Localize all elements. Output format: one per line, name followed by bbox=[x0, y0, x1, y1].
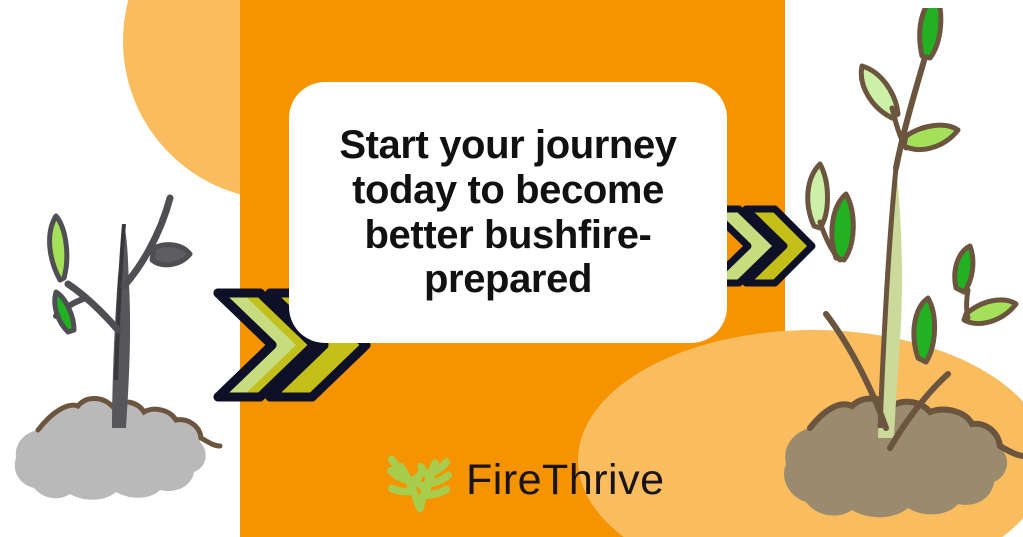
fern-leaf-icon bbox=[386, 446, 452, 514]
headline-line-4: prepared bbox=[339, 257, 676, 302]
headline-text: Start your journey today to become bette… bbox=[317, 123, 698, 302]
headline-line-1: Start your journey bbox=[339, 123, 676, 168]
brand-name: FireThrive bbox=[466, 456, 665, 505]
brand-logo: FireThrive bbox=[386, 446, 665, 514]
banner-canvas: Start your journey today to become bette… bbox=[0, 0, 1023, 537]
headline-card: Start your journey today to become bette… bbox=[289, 82, 727, 343]
headline-line-3: better bushfire- bbox=[339, 213, 676, 258]
headline-line-2: today to become bbox=[339, 168, 676, 213]
